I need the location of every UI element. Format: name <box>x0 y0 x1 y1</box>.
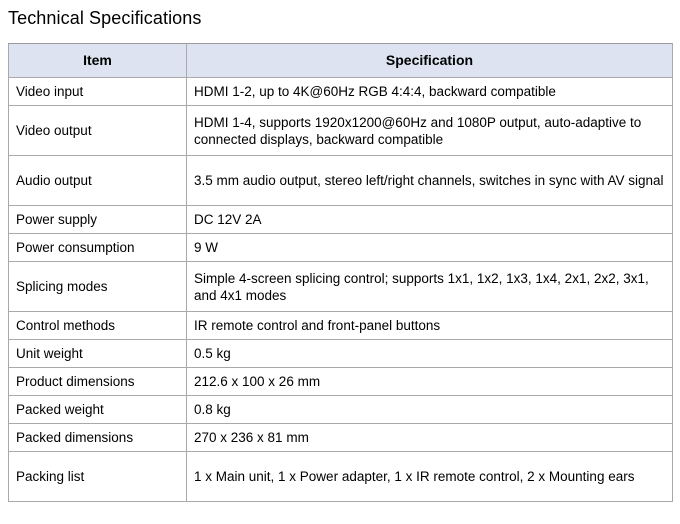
table-row: Power supplyDC 12V 2A <box>9 206 673 234</box>
column-header-specification: Specification <box>187 44 673 78</box>
cell-item: Packed dimensions <box>9 424 187 452</box>
cell-specification: 0.8 kg <box>187 396 673 424</box>
cell-item: Audio output <box>9 156 187 206</box>
column-header-item: Item <box>9 44 187 78</box>
specifications-table-container: Item Specification Video inputHDMI 1-2, … <box>8 43 672 502</box>
cell-item: Video output <box>9 106 187 156</box>
table-row: Packed dimensions270 x 236 x 81 mm <box>9 424 673 452</box>
cell-item: Unit weight <box>9 340 187 368</box>
table-row: Audio output3.5 mm audio output, stereo … <box>9 156 673 206</box>
cell-specification: 9 W <box>187 234 673 262</box>
cell-specification: IR remote control and front-panel button… <box>187 312 673 340</box>
specifications-table: Item Specification Video inputHDMI 1-2, … <box>8 43 673 502</box>
page-title: Technical Specifications <box>8 7 202 29</box>
specifications-page: Technical Specifications Item Specificat… <box>0 0 680 524</box>
cell-specification: 0.5 kg <box>187 340 673 368</box>
cell-item: Packing list <box>9 452 187 502</box>
cell-item: Video input <box>9 78 187 106</box>
table-row: Packed weight0.8 kg <box>9 396 673 424</box>
table-row: Product dimensions212.6 x 100 x 26 mm <box>9 368 673 396</box>
cell-specification: 212.6 x 100 x 26 mm <box>187 368 673 396</box>
cell-specification: HDMI 1-2, up to 4K@60Hz RGB 4:4:4, backw… <box>187 78 673 106</box>
cell-specification: DC 12V 2A <box>187 206 673 234</box>
cell-specification: 3.5 mm audio output, stereo left/right c… <box>187 156 673 206</box>
cell-specification: Simple 4-screen splicing control; suppor… <box>187 262 673 312</box>
cell-specification: 1 x Main unit, 1 x Power adapter, 1 x IR… <box>187 452 673 502</box>
cell-item: Product dimensions <box>9 368 187 396</box>
cell-specification: 270 x 236 x 81 mm <box>187 424 673 452</box>
cell-item: Power supply <box>9 206 187 234</box>
cell-specification: HDMI 1-4, supports 1920x1200@60Hz and 10… <box>187 106 673 156</box>
table-header-row: Item Specification <box>9 44 673 78</box>
table-row: Unit weight0.5 kg <box>9 340 673 368</box>
table-header: Item Specification <box>9 44 673 78</box>
table-row: Power consumption9 W <box>9 234 673 262</box>
table-row: Control methodsIR remote control and fro… <box>9 312 673 340</box>
table-row: Splicing modesSimple 4-screen splicing c… <box>9 262 673 312</box>
table-row: Video outputHDMI 1-4, supports 1920x1200… <box>9 106 673 156</box>
cell-item: Splicing modes <box>9 262 187 312</box>
table-body: Video inputHDMI 1-2, up to 4K@60Hz RGB 4… <box>9 78 673 502</box>
table-row: Video inputHDMI 1-2, up to 4K@60Hz RGB 4… <box>9 78 673 106</box>
cell-item: Control methods <box>9 312 187 340</box>
cell-item: Power consumption <box>9 234 187 262</box>
cell-item: Packed weight <box>9 396 187 424</box>
table-row: Packing list1 x Main unit, 1 x Power ada… <box>9 452 673 502</box>
